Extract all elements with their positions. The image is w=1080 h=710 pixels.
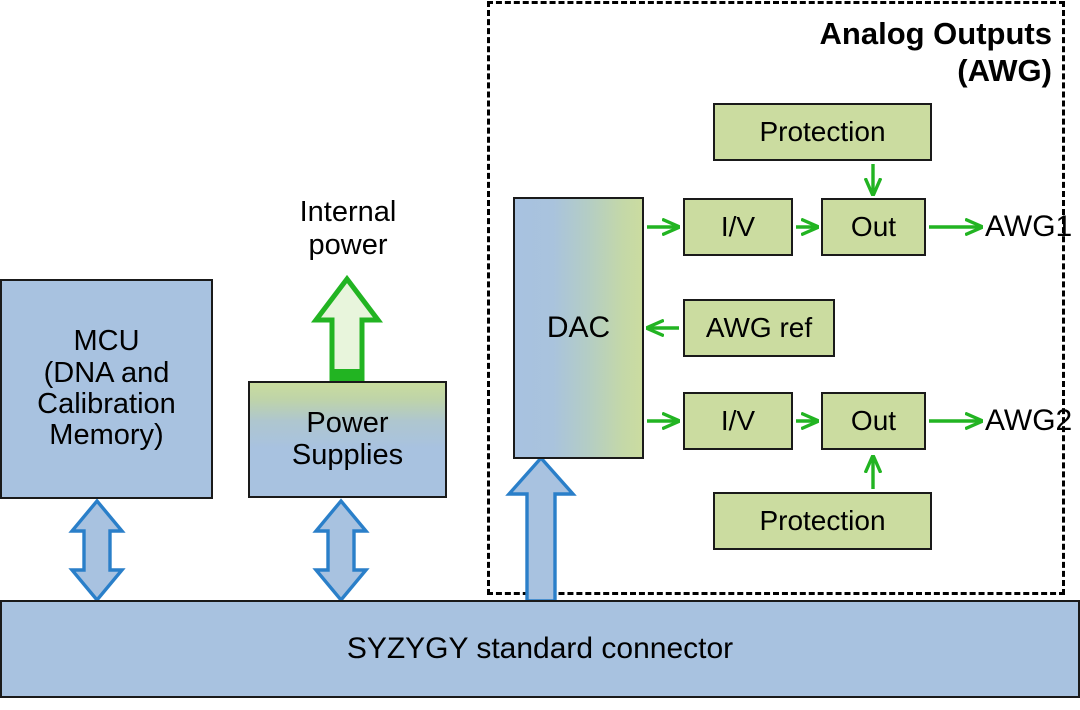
- output-label-awg2: AWG2: [985, 404, 1072, 438]
- arrow-mcu-to-connector: [72, 501, 122, 600]
- block-iv-bottom[interactable]: I/V: [683, 392, 793, 450]
- arrow-power-supplies-to-connector: [316, 501, 366, 600]
- block-iv-top[interactable]: I/V: [683, 198, 793, 256]
- block-syzygy-connector[interactable]: SYZYGY standard connector: [0, 600, 1080, 698]
- block-out-bottom[interactable]: Out: [821, 392, 926, 450]
- awg-group-title: Analog Outputs (AWG): [720, 16, 1052, 89]
- block-protection-bottom[interactable]: Protection: [713, 492, 932, 550]
- block-power-supplies[interactable]: Power Supplies: [248, 381, 447, 498]
- block-dac[interactable]: DAC: [513, 197, 644, 459]
- block-diagram: Analog Outputs (AWG) Internal power: [0, 0, 1080, 710]
- output-label-awg1: AWG1: [985, 210, 1072, 244]
- internal-power-arrow: [316, 279, 378, 383]
- block-out-top[interactable]: Out: [821, 198, 926, 256]
- internal-power-label: Internal power: [243, 196, 453, 262]
- block-mcu[interactable]: MCU (DNA and Calibration Memory): [0, 279, 213, 499]
- block-awg-ref[interactable]: AWG ref: [683, 299, 835, 357]
- block-protection-top[interactable]: Protection: [713, 103, 932, 161]
